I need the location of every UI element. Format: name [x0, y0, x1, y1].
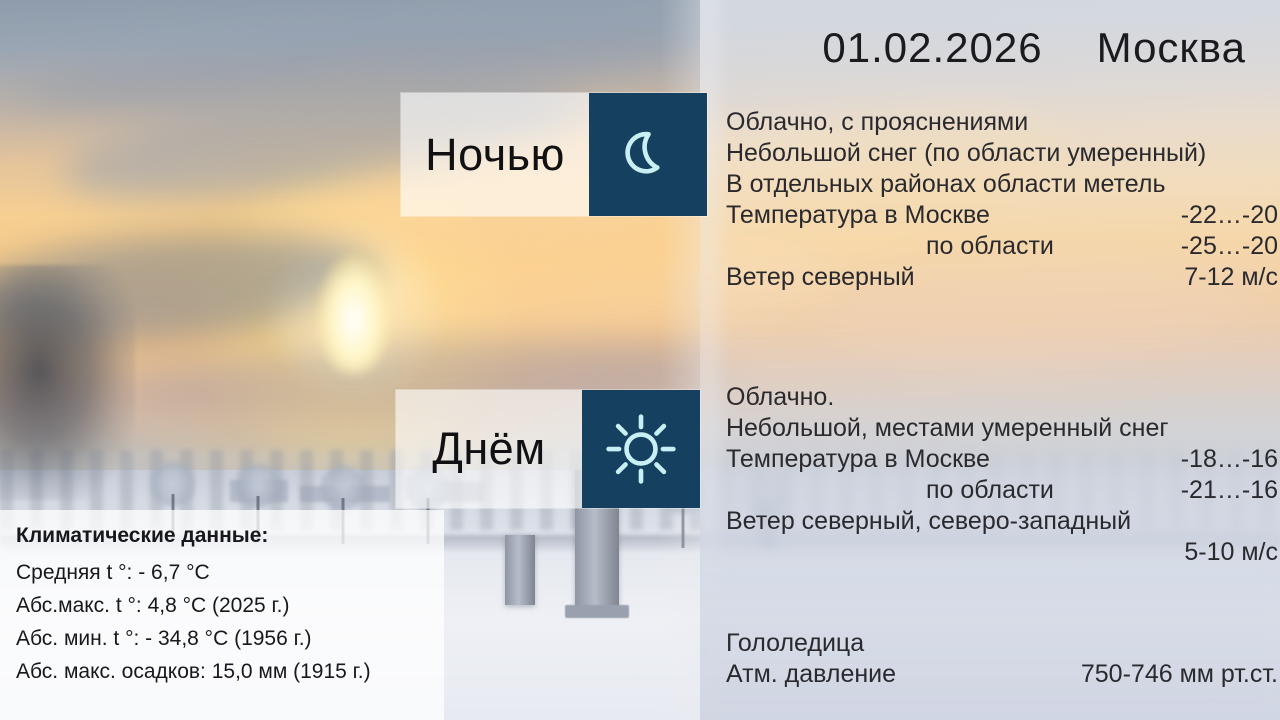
forecast-line-temp-region: по области -25…-20: [726, 231, 1278, 262]
forecast-line-label: Небольшой снег (по области умеренный): [726, 138, 1278, 169]
forecast-line: Небольшой, местами умеренный снег: [726, 413, 1278, 444]
forecast-line-label: Небольшой, местами умеренный снег: [726, 413, 1278, 444]
climate-row-abs-max-precip: Абс. макс. осадков: 15,0 мм (1915 г.): [16, 655, 444, 688]
forecast-line-temp-moscow: Температура в Москве -22…-20: [726, 200, 1278, 231]
forecast-line-value: 7-12 м/с: [1168, 262, 1278, 293]
sun-glow: [318, 255, 390, 373]
forecast-line: Облачно.: [726, 382, 1278, 413]
forecast-line-label: Облачно.: [726, 382, 1278, 413]
climate-row-abs-min-temp: Абс. мин. t °: - 34,8 °С (1956 г.): [16, 622, 444, 655]
city-name: Москва: [1097, 24, 1246, 72]
weather-forecast-slide: 01.02.2026 Москва Ночью Облачно, с прояс…: [0, 0, 1280, 720]
night-forecast-block: Облачно, с прояснениями Небольшой снег (…: [726, 107, 1278, 293]
moon-icon: [589, 93, 707, 216]
forecast-line-label: Гололедица: [726, 628, 1278, 659]
forecast-line-wind-speed: 5-10 м/с: [726, 537, 1278, 568]
night-label-card: Ночью: [401, 93, 707, 216]
forecast-line-ice: Гололедица: [726, 628, 1278, 659]
forecast-line-label: Температура в Москве: [726, 200, 990, 231]
forecast-line-value: 750-746 мм рт.ст.: [1065, 659, 1278, 690]
climate-row-abs-max-temp: Абс.макс. t °: 4,8 °С (2025 г.): [16, 589, 444, 622]
forecast-line-label: Ветер северный: [726, 262, 915, 293]
forecast-line: В отдельных районах области метель: [726, 169, 1278, 200]
forecast-line: Небольшой снег (по области умеренный): [726, 138, 1278, 169]
forecast-line-label: Облачно, с прояснениями: [726, 107, 1278, 138]
night-label: Ночью: [401, 129, 589, 181]
forecast-line-value: -18…-16: [1165, 444, 1278, 475]
forecast-line-label: по области: [726, 475, 1054, 506]
forecast-line-value: 5-10 м/с: [1168, 537, 1278, 568]
climate-data-panel: Климатические данные: Средняя t °: - 6,7…: [0, 510, 444, 720]
forecast-line-wind: Ветер северный, северо-западный: [726, 506, 1278, 537]
climate-panel-title: Климатические данные:: [16, 524, 444, 548]
forecast-line-value: -25…-20: [1165, 231, 1278, 262]
forecast-date: 01.02.2026: [822, 24, 1042, 72]
forecast-line-pressure: Атм. давление 750-746 мм рт.ст.: [726, 659, 1278, 690]
day-label: Днём: [396, 423, 582, 475]
climate-row-mean-temp: Средняя t °: - 6,7 °С: [16, 556, 444, 589]
forecast-line-temp-region: по области -21…-16: [726, 475, 1278, 506]
foreground-tree: [0, 265, 135, 500]
sun-icon: [582, 390, 700, 508]
forecast-line-label: В отдельных районах области метель: [726, 169, 1278, 200]
day-forecast-block: Облачно. Небольшой, местами умеренный сн…: [726, 382, 1278, 568]
forecast-line-label: Ветер северный, северо-западный: [726, 506, 1278, 537]
forecast-line-label: Температура в Москве: [726, 444, 990, 475]
extra-conditions-block: Гололедица Атм. давление 750-746 мм рт.с…: [726, 628, 1278, 690]
forecast-line: Облачно, с прояснениями: [726, 107, 1278, 138]
forecast-line-wind: Ветер северный 7-12 м/с: [726, 262, 1278, 293]
forecast-line-label: по области: [726, 231, 1054, 262]
header: 01.02.2026 Москва: [700, 18, 1270, 78]
forecast-line-temp-moscow: Температура в Москве -18…-16: [726, 444, 1278, 475]
forecast-line-value: -22…-20: [1165, 200, 1278, 231]
concrete-post-base: [565, 605, 629, 618]
concrete-bollard: [505, 535, 535, 605]
forecast-line-label: Атм. давление: [726, 659, 896, 690]
day-label-card: Днём: [396, 390, 700, 508]
forecast-line-value: -21…-16: [1165, 475, 1278, 506]
